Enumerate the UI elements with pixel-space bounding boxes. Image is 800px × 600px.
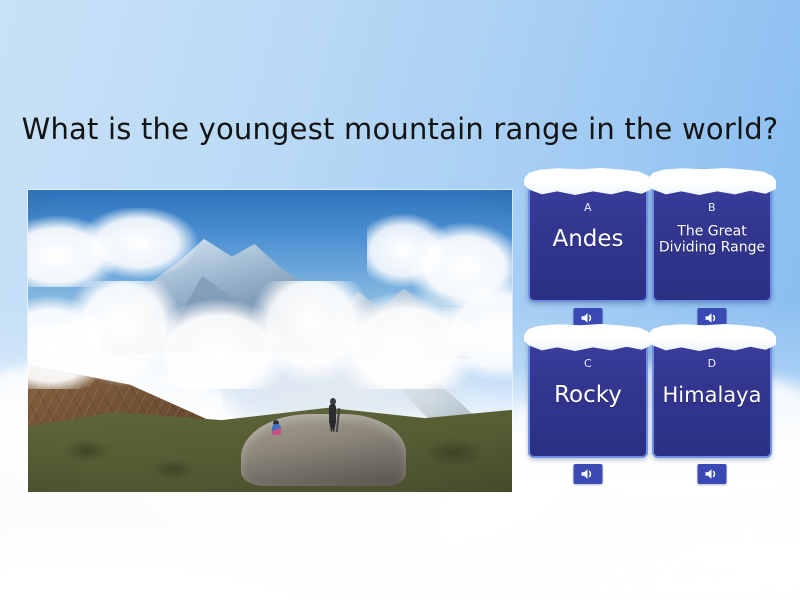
speaker-button-b[interactable] bbox=[698, 308, 727, 328]
answer-text-c: Rocky bbox=[534, 383, 642, 409]
answer-text-a: Andes bbox=[534, 227, 642, 253]
answer-grid: A Andes B The Great Dividing Range bbox=[528, 178, 784, 490]
answer-text-d: Himalaya bbox=[658, 384, 766, 408]
answer-cell-b: B The Great Dividing Range bbox=[652, 178, 772, 302]
photo-vignette bbox=[28, 190, 512, 492]
snow-cap-icon bbox=[648, 168, 776, 198]
answer-cell-c: C Rocky bbox=[528, 334, 648, 458]
answer-card-c[interactable]: C Rocky bbox=[528, 334, 648, 458]
speaker-icon bbox=[581, 312, 596, 324]
answer-cell-d: D Himalaya bbox=[652, 334, 772, 458]
speaker-button-d[interactable] bbox=[698, 464, 727, 484]
mountain-photo-canvas bbox=[28, 190, 512, 492]
answer-card-b[interactable]: B The Great Dividing Range bbox=[652, 178, 772, 302]
mountain-photo bbox=[28, 190, 512, 492]
answer-letter-b: B bbox=[654, 201, 770, 214]
question-text: What is the youngest mountain range in t… bbox=[0, 112, 800, 146]
answer-text-b: The Great Dividing Range bbox=[658, 224, 766, 255]
answer-letter-a: A bbox=[530, 201, 646, 214]
quiz-slide: What is the youngest mountain range in t… bbox=[0, 0, 800, 600]
speaker-button-a[interactable] bbox=[574, 308, 603, 328]
answer-card-a[interactable]: A Andes bbox=[528, 178, 648, 302]
speaker-icon bbox=[705, 312, 720, 324]
snow-cap-icon bbox=[524, 324, 652, 354]
answer-letter-c: C bbox=[530, 357, 646, 370]
snow-cap-icon bbox=[648, 324, 776, 354]
speaker-button-c[interactable] bbox=[574, 464, 603, 484]
speaker-icon bbox=[705, 468, 720, 480]
answer-cell-a: A Andes bbox=[528, 178, 648, 302]
speaker-icon bbox=[581, 468, 596, 480]
answer-card-d[interactable]: D Himalaya bbox=[652, 334, 772, 458]
snow-cap-icon bbox=[524, 168, 652, 198]
answer-letter-d: D bbox=[654, 357, 770, 370]
